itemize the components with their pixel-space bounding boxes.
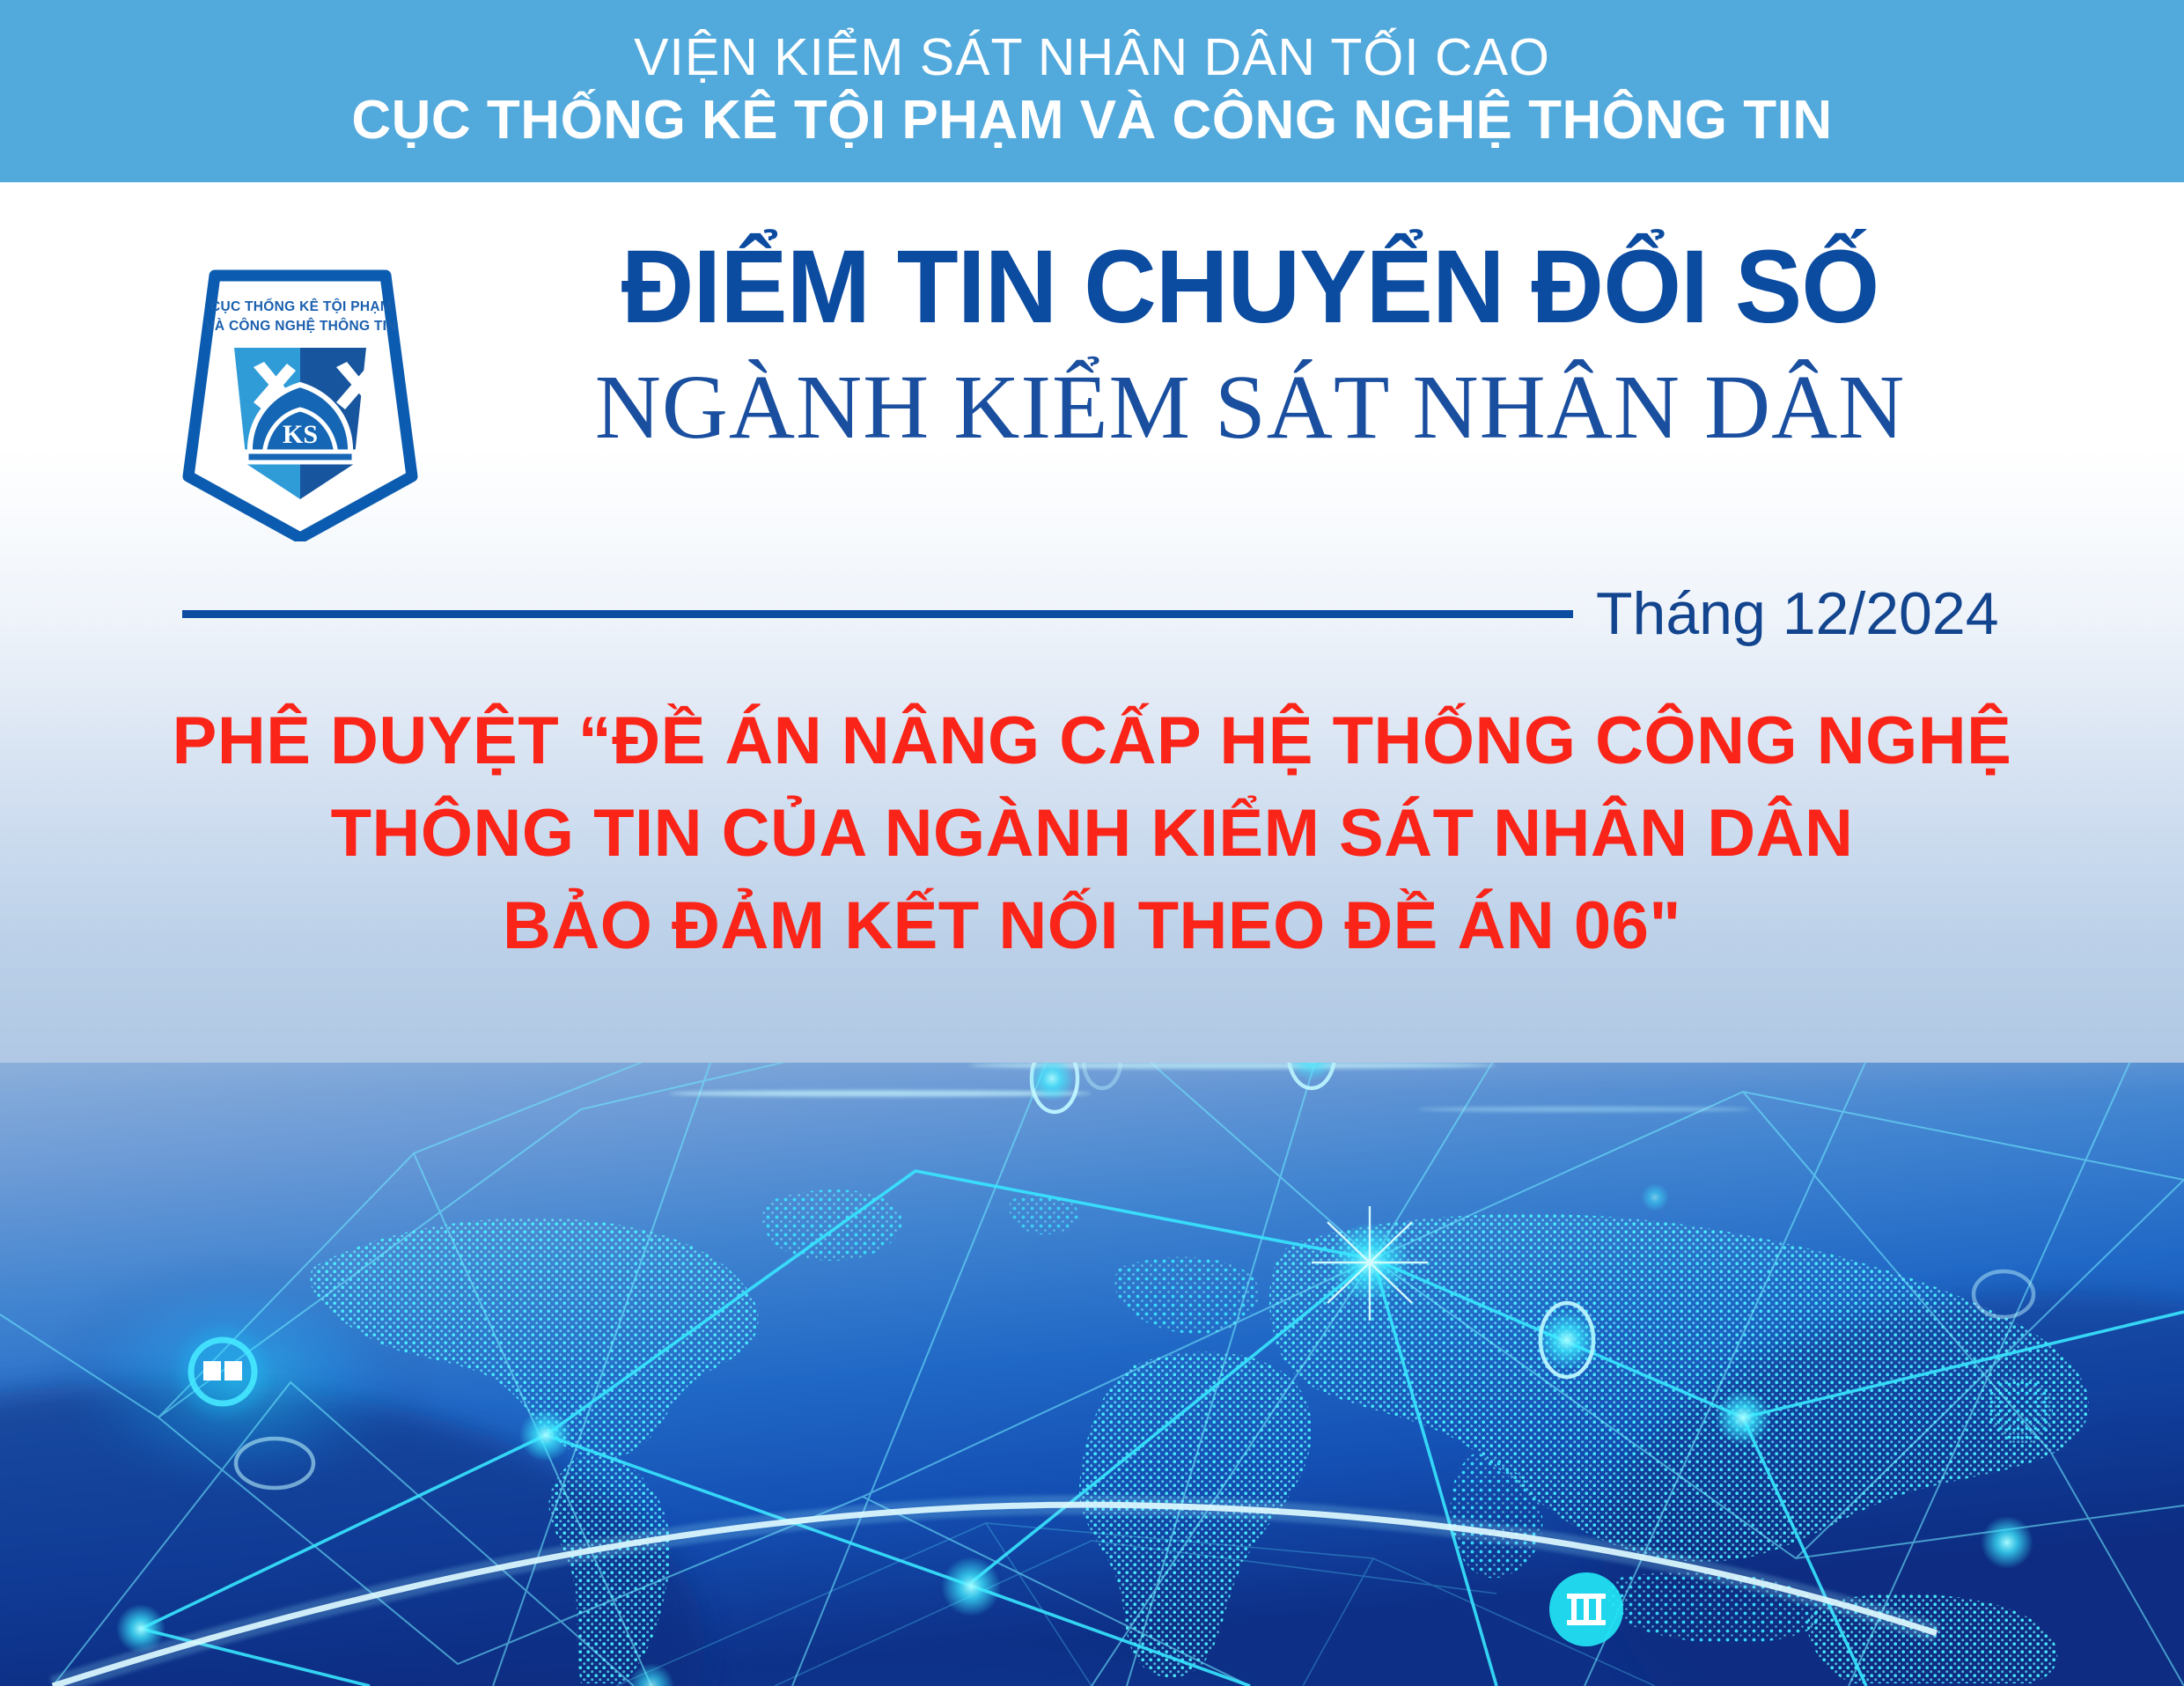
emblem-caption-line-2: VÀ CÔNG NGHỆ THÔNG TIN [205, 318, 397, 334]
page-title: ĐIỂM TIN CHUYỂN ĐỔI SỐ [498, 235, 2001, 339]
headline-line-3: BẢO ĐẢM KẾT NỐI THEO ĐỀ ÁN 06" [0, 880, 2184, 973]
masthead: KS CỤC THỐNG KÊ TỘI PHẠM VÀ CÔNG NGHỆ TH… [0, 235, 2184, 605]
horizontal-divider [182, 610, 1573, 618]
agency-emblem: KS CỤC THỐNG KÊ TỘI PHẠM VÀ CÔNG NGHỆ TH… [173, 260, 428, 541]
poster-page: VIỆN KIỂM SÁT NHÂN DÂN TỐI CAO CỤC THỐNG… [0, 0, 2184, 1686]
headline-line-2: THÔNG TIN CỦA NGÀNH KIỂM SÁT NHÂN DÂN [0, 788, 2184, 880]
title-block: ĐIỂM TIN CHUYỂN ĐỔI SỐ NGÀNH KIỂM SÁT NH… [475, 235, 2025, 453]
emblem-center-text: KS [283, 420, 318, 449]
emblem-caption-line-1: CỤC THỐNG KÊ TỘI PHẠM [210, 298, 392, 314]
issue-rule-row: Tháng 12/2024 [0, 574, 2184, 653]
badge-bank-building [1549, 1572, 1623, 1646]
headline-line-1: PHÊ DUYỆT “ĐỀ ÁN NÂNG CẤP HỆ THỐNG CÔNG … [0, 696, 2184, 788]
badge-globe-node-icon [179, 1328, 267, 1416]
org-name-line-2: CỤC THỐNG KÊ TỘI PHẠM VÀ CÔNG NGHỆ THÔNG… [351, 90, 1832, 151]
art-continents [311, 1189, 2090, 1683]
page-subtitle: NGÀNH KIỂM SÁT NHÂN DÂN [475, 362, 2025, 453]
issue-date: Tháng 12/2024 [1596, 584, 1999, 644]
org-name-line-1: VIỆN KIỂM SÁT NHÂN DÂN TỐI CAO [634, 31, 1550, 85]
feature-headline: PHÊ DUYỆT “ĐỀ ÁN NÂNG CẤP HỆ THỐNG CÔNG … [0, 696, 2184, 973]
organization-header-band: VIỆN KIỂM SÁT NHÂN DÂN TỐI CAO CỤC THỐNG… [0, 0, 2184, 182]
